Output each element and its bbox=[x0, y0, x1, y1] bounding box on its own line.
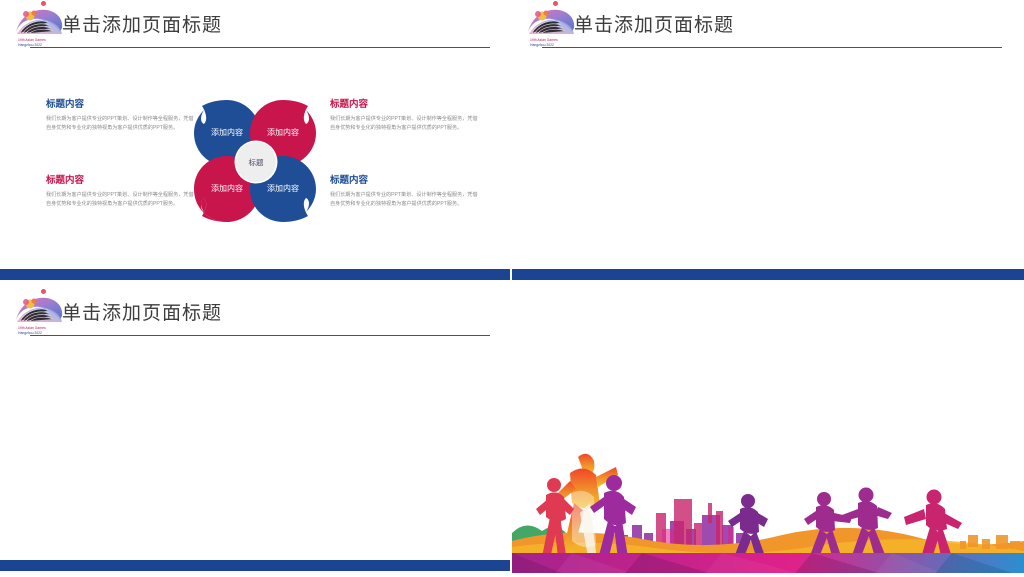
flower-text-top-right: 标题内容 我们长期为客户提供专业的PPT策划、设计制作等全程服务，凭借自身优势和… bbox=[330, 96, 480, 134]
flower-center-label: 标题 bbox=[236, 142, 276, 182]
block-title: 标题内容 bbox=[46, 96, 196, 110]
slide-2-header: 19th Asian Games Hangzhou 2022 单击添加页面标题 bbox=[512, 0, 1024, 52]
petal-label: 添加内容 bbox=[211, 128, 243, 138]
page-title: 单击添加页面标题 bbox=[574, 10, 734, 37]
block-body: 我们长期为客户提供专业的PPT策划、设计制作等全程服务，凭借自身优势和专业化的独… bbox=[330, 115, 480, 134]
page-title: 单击添加页面标题 bbox=[62, 298, 222, 325]
slide-1-header: 19th Asian Games Hangzhou 2022 单击添加页面标题 bbox=[0, 0, 510, 52]
slide-2[interactable]: 19th Asian Games Hangzhou 2022 单击添加页面标题 … bbox=[512, 0, 1024, 288]
slide-deck-grid: 19th Asian Games Hangzhou 2022 单击添加页面标题 … bbox=[0, 0, 1024, 577]
header-divider bbox=[30, 47, 490, 48]
block-body: 我们长期为客户提供专业的PPT策划、设计制作等全程服务，凭借自身优势和专业化的独… bbox=[46, 115, 196, 134]
petal-label: 添加内容 bbox=[267, 184, 299, 194]
petal-label: 添加内容 bbox=[211, 184, 243, 194]
block-body: 我们长期为客户提供专业的PPT策划、设计制作等全程服务，凭借自身优势和专业化的独… bbox=[330, 191, 480, 210]
slide-footer-bar bbox=[0, 269, 510, 280]
svg-text:19th Asian Games: 19th Asian Games bbox=[18, 38, 46, 42]
page-title: 单击添加页面标题 bbox=[62, 10, 222, 37]
flower-text-bottom-left: 标题内容 我们长期为客户提供专业的PPT策划、设计制作等全程服务，凭借自身优势和… bbox=[46, 172, 196, 210]
block-title: 标题内容 bbox=[330, 172, 480, 186]
slide-3-header: 19th Asian Games Hangzhou 2022 单击添加页面标题 bbox=[0, 288, 510, 340]
slide-1[interactable]: 19th Asian Games Hangzhou 2022 单击添加页面标题 … bbox=[0, 0, 512, 288]
petal-label: 添加内容 bbox=[267, 128, 299, 138]
asian-games-emblem-icon: 19th Asian Games Hangzhou 2022 bbox=[14, 6, 64, 48]
block-title: 标题内容 bbox=[46, 172, 196, 186]
svg-text:19th Asian Games: 19th Asian Games bbox=[18, 326, 46, 330]
slide-footer-bar bbox=[0, 560, 510, 571]
header-divider bbox=[542, 47, 1002, 48]
block-title: 标题内容 bbox=[330, 96, 480, 110]
slide-4-section-cover[interactable]: 02 杭州亚运会申办过程 bbox=[512, 288, 1024, 577]
flower-text-top-left: 标题内容 我们长期为客户提供专业的PPT策划、设计制作等全程服务，凭借自身优势和… bbox=[46, 96, 196, 134]
svg-text:19th Asian Games: 19th Asian Games bbox=[530, 38, 558, 42]
runners-skyline-artwork bbox=[512, 437, 1024, 577]
slide-3[interactable]: 19th Asian Games Hangzhou 2022 单击添加页面标题 bbox=[0, 288, 512, 577]
asian-games-emblem-icon: 19th Asian Games Hangzhou 2022 bbox=[526, 6, 576, 48]
block-body: 我们长期为客户提供专业的PPT策划、设计制作等全程服务，凭借自身优势和专业化的独… bbox=[46, 191, 196, 210]
slide-footer-bar bbox=[512, 269, 1024, 280]
flower-text-bottom-right: 标题内容 我们长期为客户提供专业的PPT策划、设计制作等全程服务，凭借自身优势和… bbox=[330, 172, 480, 210]
header-divider bbox=[30, 335, 490, 336]
asian-games-emblem-icon: 19th Asian Games Hangzhou 2022 bbox=[14, 294, 64, 336]
flower-diagram: 添加内容 添加内容 添加内容 添加内容 标题 bbox=[192, 98, 320, 226]
